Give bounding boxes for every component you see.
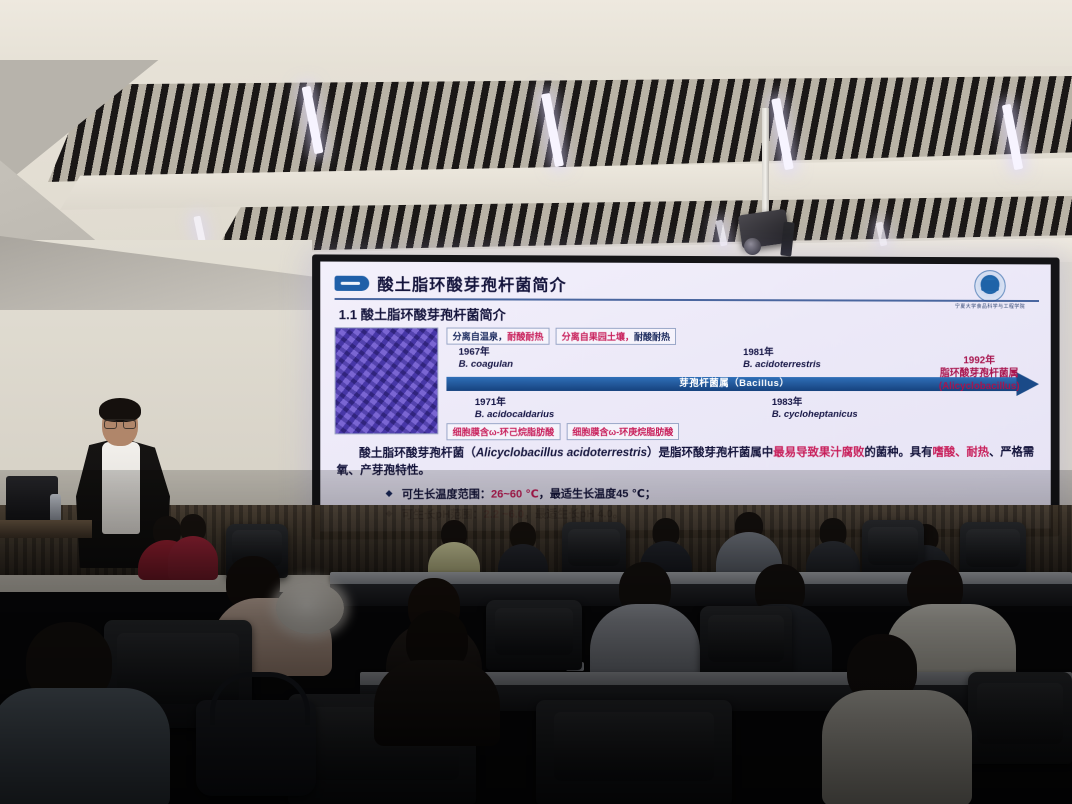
bacteria-sem-micrograph (335, 327, 439, 434)
person-body (590, 604, 700, 682)
person-row2-grey-jacket (590, 562, 700, 674)
bullet-temperature: 可生长温度范围：26~60 ℃，最适生长温度45 ℃； (402, 483, 1039, 505)
slide-title: 酸土脂环酸芽孢杆菌简介 (377, 271, 566, 296)
presenter-glasses-icon (104, 419, 136, 428)
timeline-diagram: 分离自温泉，耐酸耐热 分离自果园土壤，耐酸耐热 1967年 B. coagula… (335, 327, 1039, 440)
year-1983: 1983年 B. cycloheptanicus (732, 397, 1039, 421)
lecture-hall-photo: 酸土脂环酸芽孢杆菌简介 宁夏大学食品科学与工程学院 1.1 酸土脂环酸芽孢杆菌简… (0, 0, 1072, 804)
backpack-strap (210, 672, 310, 725)
chair-near-far-right (968, 672, 1072, 764)
arrow-tab-icon (335, 275, 370, 290)
person-far-left-2 (168, 514, 218, 578)
genus-result: 1992年 脂环酸芽孢杆菌属 (Alicyclobacillus) (915, 354, 1043, 393)
genus-year: 1992年 (915, 354, 1043, 367)
timeline-bottom-years: 1971年 B. acidocaldarius 1983年 B. cyclohe… (446, 397, 1039, 421)
chair (700, 606, 792, 678)
person-far-mid (498, 522, 548, 578)
year-1971: 1971年 B. acidocaldarius (446, 397, 726, 421)
person-body (0, 688, 170, 804)
slide-section-title: 1.1 酸土脂环酸芽孢杆菌简介 (339, 304, 1039, 325)
timeline-column: 分离自温泉，耐酸耐热 分离自果园土壤，耐酸耐热 1967年 B. coagula… (446, 327, 1039, 439)
presentation-screen: 酸土脂环酸芽孢杆菌简介 宁夏大学食品科学与工程学院 1.1 酸土脂环酸芽孢杆菌简… (312, 254, 1059, 539)
tag-cyclohexane-fatty-acid: 细胞膜含ω-环己烷脂肪酸 (446, 423, 560, 440)
presenter-shirt (102, 442, 140, 534)
ceiling-soffit-upper (0, 0, 1072, 66)
tag-orchard-soil: 分离自果园土壤，耐酸耐热 (556, 328, 676, 345)
university-seal-icon (974, 270, 1005, 302)
slide-paragraph: 酸土脂环酸芽孢杆菌（Alicyclobacillus acidoterrestr… (337, 444, 1037, 481)
genus-name-latin: (Alicyclobacillus) (915, 380, 1043, 393)
projector-mount-pole (762, 108, 769, 216)
header-divider (335, 298, 1039, 302)
genus-name-cn: 脂环酸芽孢杆菌属 (915, 367, 1043, 380)
person-foreground-right (822, 634, 972, 804)
chair-near-right (536, 700, 732, 804)
projector-lens-icon (744, 238, 761, 255)
university-logo-text: 宁夏大学食品科学与工程学院 (944, 303, 1036, 310)
slide-content: 酸土脂环酸芽孢杆菌简介 宁夏大学食品科学与工程学院 1.1 酸土脂环酸芽孢杆菌简… (320, 262, 1050, 532)
person-far-yellow (428, 520, 480, 576)
tag-hotspring: 分离自温泉，耐酸耐热 (446, 327, 549, 344)
screen-surface: 酸土脂环酸芽孢杆菌简介 宁夏大学食品科学与工程学院 1.1 酸土脂环酸芽孢杆菌简… (320, 262, 1050, 532)
slide-header: 酸土脂环酸芽孢杆菌简介 宁夏大学食品科学与工程学院 (335, 270, 1039, 298)
person-body (822, 690, 972, 804)
timeline-bottom-tags: 细胞膜含ω-环己烷脂肪酸 细胞膜含ω-环庚烷脂肪酸 (446, 422, 1039, 440)
year-1967: 1967年 B. coagulan (446, 347, 715, 371)
podium-desk (0, 520, 92, 538)
timeline-top-tags: 分离自温泉，耐酸耐热 分离自果园土壤，耐酸耐热 (446, 327, 1039, 345)
podium-bottle (50, 494, 61, 522)
person-foreground-center (374, 610, 500, 740)
person-body (168, 536, 218, 580)
person-foreground-left (0, 622, 170, 804)
chair (486, 600, 582, 670)
fur-collar (276, 582, 344, 634)
tag-cycloheptane-fatty-acid: 细胞膜含ω-环庚烷脂肪酸 (566, 423, 679, 440)
university-logo: 宁夏大学食品科学与工程学院 (945, 270, 1035, 310)
person-body (374, 660, 500, 746)
